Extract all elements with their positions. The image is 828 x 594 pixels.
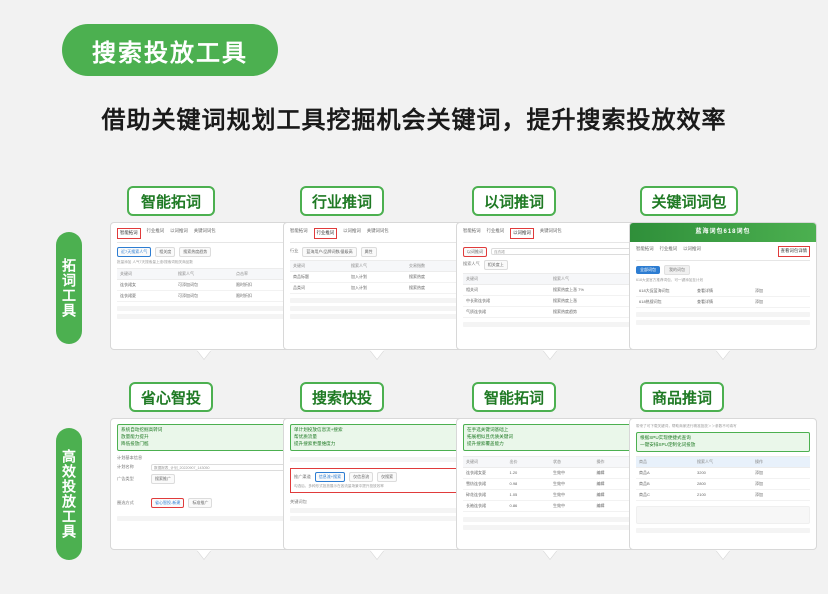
card-1-hint: 批量添加 人气7天搜索量上涨/搜索词相关商品数 bbox=[117, 260, 193, 265]
card-3-tail bbox=[543, 350, 557, 359]
card-2-filter-row[interactable]: 行业 蓝海用户/品牌词数/量级高 属性 bbox=[290, 247, 464, 257]
card-1-strip-1 bbox=[117, 306, 291, 311]
card-3-tabbar[interactable]: 智能拓词 行业推词 以词推词 关键词词包 bbox=[463, 228, 637, 243]
card-5-field-0-value: 数据报表_计划_20220907_143050 bbox=[152, 465, 290, 472]
card-2-tab-0[interactable]: 智能拓词 bbox=[290, 228, 308, 239]
table-row[interactable]: 气质连衣裙 搜索热度趋势 bbox=[463, 307, 637, 318]
card-8-th-0: 商品 bbox=[636, 457, 694, 467]
card-6-tail bbox=[370, 550, 384, 559]
card-3-tab-2[interactable]: 以词推词 bbox=[510, 228, 534, 239]
card-5-content: 系统自动挖掘高转词 放量能力提升 降低投放门槛 计划基本信息 计划名称 数据报表… bbox=[111, 419, 297, 549]
card-8-r2c2[interactable]: 添加 bbox=[752, 490, 810, 500]
card-3-r0c0: 相关词 bbox=[463, 285, 550, 295]
table-row[interactable]: 商品B 2800 添加 bbox=[636, 479, 810, 490]
card-6-content: 单计划投放信息流+搜索 帮优质流量 提升搜索更量维度力 推广渠道 信息流+搜索 … bbox=[284, 419, 470, 549]
card-2-th-0: 关键词 bbox=[290, 261, 348, 271]
card-screenshot-6[interactable]: 单计划投放信息流+搜索 帮优质流量 提升搜索更量维度力 推广渠道 信息流+搜索 … bbox=[283, 418, 471, 550]
card-1-tab-1[interactable]: 行业推词 bbox=[147, 228, 165, 239]
card-3-r0c1: 搜索热度上涨 7% bbox=[550, 285, 637, 295]
card-screenshot-3[interactable]: 智能拓词 行业推词 以词推词 关键词词包 以词推词 连衣裙 搜索人气 相关度上 … bbox=[456, 222, 644, 350]
card-6-radio-row[interactable]: 推广渠道 信息流+搜索 仅信息流 仅搜索 bbox=[294, 472, 460, 482]
section-label-text-2: 高效投放工具 bbox=[61, 449, 77, 539]
card-2-r1c1: 加入计划 bbox=[348, 283, 406, 293]
card-1-tab-0[interactable]: 智能拓词 bbox=[117, 228, 141, 239]
card-5-form-title: 计划基本信息 bbox=[117, 455, 291, 461]
card-6-strip-1 bbox=[290, 457, 464, 462]
table-row[interactable]: 商品C 2100 添加 bbox=[636, 490, 810, 501]
card-8-tail bbox=[716, 550, 730, 559]
card-5-field-1-value[interactable]: 搜索推广 bbox=[151, 474, 175, 484]
card-6-note: 单计划投放信息流+搜索 帮优质流量 提升搜索更量维度力 bbox=[290, 424, 464, 451]
card-8-r1c1: 2800 bbox=[694, 479, 752, 489]
card-1-tabbar[interactable]: 智能拓词 行业推词 以词推词 关键词词包 bbox=[117, 228, 291, 243]
card-3-tab-1[interactable]: 行业推词 bbox=[487, 228, 505, 239]
card-8-r1c0: 商品B bbox=[636, 479, 694, 489]
card-4-content: 蓝海词包618词包 智能拓词 行业推词 以词推词 查看词包详情 全部词包 我的词… bbox=[630, 223, 816, 349]
card-4-subtabs[interactable]: 全部词包 我的词包 bbox=[636, 265, 810, 275]
card-3-filter-row[interactable]: 搜索人气 相关度上 bbox=[463, 260, 637, 270]
card-1-th-1: 搜索人气 bbox=[175, 269, 233, 279]
table-row[interactable]: 相关词 搜索热度上涨 7% bbox=[463, 285, 637, 296]
card-7-r1c0: 雪纺连衣裙 bbox=[463, 479, 507, 489]
card-7-th-2: 状态 bbox=[550, 457, 594, 467]
card-8-r0c1: 3200 bbox=[694, 468, 752, 478]
table-row[interactable]: 中长款连衣裙 搜索热度上涨 bbox=[463, 296, 637, 307]
card-7-r0c1: 1.20 bbox=[507, 468, 551, 478]
card-2-r0c0: 商品标题 bbox=[290, 272, 348, 282]
card-screenshot-7[interactable]: 在手选关键词基础上 拓展相似且优质关键词 提升搜索覆盖能力 关键词 出价 状态 … bbox=[456, 418, 644, 550]
card-1-hint-row: 批量添加 人气7天搜索量上涨/搜索词相关商品数 bbox=[117, 260, 291, 265]
card-4-strip-1 bbox=[636, 312, 810, 317]
card-4-r1c2: 添加 bbox=[752, 297, 810, 307]
card-4-subtab-0[interactable]: 全部词包 bbox=[636, 266, 660, 274]
card-4-banner: 蓝海词包618词包 bbox=[630, 223, 816, 242]
card-4-tabbar[interactable]: 智能拓词 行业推词 以词推词 查看词包详情 bbox=[636, 246, 810, 261]
card-3-th-0: 关键词 bbox=[463, 274, 550, 284]
card-3-tab-0[interactable]: 智能拓词 bbox=[463, 228, 481, 239]
card-7-r1c1: 0.98 bbox=[507, 479, 551, 489]
card-1-table-head: 关键词 搜索人气 点击率 bbox=[117, 268, 291, 280]
card-7-strip-1 bbox=[463, 517, 637, 522]
card-6-strip-3 bbox=[290, 516, 464, 521]
card-chip-7[interactable]: 智能拓词 bbox=[472, 382, 556, 412]
card-8-th-1: 搜索人气 bbox=[694, 457, 752, 467]
card-1-tab-2[interactable]: 以词推词 bbox=[170, 228, 188, 239]
card-screenshot-8[interactable]: 带来了可下载关键词，帮助商家进行精准投放＞＞参数不可填写 根据SPU实现便捷式查… bbox=[629, 418, 817, 550]
card-6-strip-2 bbox=[290, 508, 464, 513]
card-chip-6[interactable]: 搜索快投 bbox=[300, 382, 384, 412]
card-8-r1c2[interactable]: 添加 bbox=[752, 479, 810, 489]
card-7-r0c0: 连衣裙女夏 bbox=[463, 468, 507, 478]
card-1-r1c1: 可添加词包 bbox=[175, 291, 233, 301]
card-8-r2c0: 商品C bbox=[636, 490, 694, 500]
card-2-table-head: 关键词 搜索人气 交易指数 bbox=[290, 260, 464, 272]
table-row[interactable]: 连衣裙女夏 1.20 生效中 编辑 bbox=[463, 468, 637, 479]
card-chip-4[interactable]: 关键词词包 bbox=[640, 186, 738, 216]
card-3-filter-1[interactable]: 相关度上 bbox=[484, 260, 508, 270]
card-3-keyword-input[interactable]: 连衣裙 bbox=[491, 248, 637, 255]
table-row[interactable]: 雪纺连衣裙 0.98 生效中 编辑 bbox=[463, 479, 637, 490]
section-label-text-1: 拓词工具 bbox=[61, 258, 77, 318]
card-2-tab-3[interactable]: 关键词词包 bbox=[367, 228, 389, 239]
card-3-r1c1: 搜索热度上涨 bbox=[550, 296, 637, 306]
card-3-filter-0: 搜索人气 bbox=[463, 261, 480, 267]
section-label-delivery-tools: 高效投放工具 bbox=[56, 428, 82, 560]
card-4-r1c1: 查看详情 bbox=[694, 297, 752, 307]
card-4-tab-1[interactable]: 行业推词 bbox=[660, 246, 678, 257]
section-label-keyword-tools: 拓词工具 bbox=[56, 232, 82, 344]
card-4-strip-2 bbox=[636, 320, 810, 325]
card-chip-2[interactable]: 行业推词 bbox=[300, 186, 384, 216]
card-8-placeholder-block bbox=[636, 506, 810, 524]
card-5-field-2-label: 圈选方式 bbox=[117, 500, 147, 506]
card-8-r2c1: 2100 bbox=[694, 490, 752, 500]
card-5-field-0[interactable]: 计划名称 数据报表_计划_20220907_143050 bbox=[117, 464, 291, 471]
card-2-content: 智能拓词 行业推词 以词推词 关键词词包 行业 蓝海用户/品牌词数/量级高 属性… bbox=[284, 223, 470, 349]
card-2-filter-2[interactable]: 属性 bbox=[361, 247, 377, 257]
card-3-r1c0: 中长款连衣裙 bbox=[463, 296, 550, 306]
card-2-tail bbox=[370, 350, 384, 359]
card-5-field-0-input[interactable]: 数据报表_计划_20220907_143050 bbox=[151, 464, 291, 471]
table-row[interactable]: 商品A 3200 添加 bbox=[636, 468, 810, 479]
card-6-radio-opt-2[interactable]: 仅搜索 bbox=[377, 472, 397, 482]
card-2-filter-label: 行业 bbox=[290, 248, 298, 254]
slide-page: 搜索投放工具 借助关键词规划工具挖掘机会关键词，提升搜索投放效率 拓词工具 高效… bbox=[0, 0, 828, 594]
card-6-radio-group[interactable]: 推广渠道 信息流+搜索 仅信息流 仅搜索 勾选后，多种形式投放展示在各流量场景中… bbox=[290, 468, 464, 493]
table-row[interactable]: 连衣裙夏 可添加词包 限时折扣 bbox=[117, 291, 291, 302]
card-6-radio-opt-1[interactable]: 仅信息流 bbox=[349, 472, 373, 482]
card-3-r2c0: 气质连衣裙 bbox=[463, 307, 550, 317]
card-5-field-0-label: 计划名称 bbox=[117, 464, 147, 470]
card-7-r2c1: 1.05 bbox=[507, 490, 551, 500]
card-1-strip-2 bbox=[117, 314, 291, 319]
card-2-r0c1: 加入计划 bbox=[348, 272, 406, 282]
table-row[interactable]: 连衣裙女 可添加词包 限时折扣 bbox=[117, 280, 291, 291]
card-5-field-2-value[interactable]: 省心智投-新建 bbox=[151, 498, 184, 508]
card-7-strip-2 bbox=[463, 525, 637, 530]
card-1-filter-row[interactable]: 近7天搜索人气 相关度 搜索热度趋势 bbox=[117, 247, 291, 257]
table-row[interactable]: 商品标题 加入计划 搜索热度 bbox=[290, 272, 464, 283]
card-7-note: 在手选关键词基础上 拓展相似且优质关键词 提升搜索覆盖能力 bbox=[463, 424, 637, 451]
card-7-r0c2: 生效中 bbox=[550, 468, 594, 478]
card-7-r3c2: 生效中 bbox=[550, 501, 594, 511]
card-4-body: 智能拓词 行业推词 以词推词 查看词包详情 全部词包 我的词包 618大促官方推… bbox=[630, 242, 816, 329]
card-3-input-label[interactable]: 以词推词 bbox=[463, 247, 487, 257]
card-6-radio-label: 推广渠道 bbox=[294, 474, 311, 480]
card-7-th-0: 关键词 bbox=[463, 457, 507, 467]
card-1-th-0: 关键词 bbox=[117, 269, 175, 279]
card-3-strip-1 bbox=[463, 322, 637, 327]
card-4-r0c0: 618大促蓝海词包 bbox=[636, 286, 694, 296]
card-2-r1c0: 品类词 bbox=[290, 283, 348, 293]
card-5-tail bbox=[197, 550, 211, 559]
card-6-tip: 勾选后，多种形式投放展示在各流量场景中提升投放效率 bbox=[294, 484, 460, 489]
card-3-input-row[interactable]: 以词推词 连衣裙 bbox=[463, 247, 637, 257]
card-7-table-head: 关键词 出价 状态 操作 bbox=[463, 456, 637, 468]
card-4-tail bbox=[716, 350, 730, 359]
card-1-content: 智能拓词 行业推词 以词推词 关键词词包 近7天搜索人气 相关度 搜索热度趋势 … bbox=[111, 223, 297, 349]
card-chip-8[interactable]: 商品推词 bbox=[640, 382, 724, 412]
card-5-field-1-label: 广告类型 bbox=[117, 476, 147, 482]
card-7-r3c1: 0.86 bbox=[507, 501, 551, 511]
card-1-tail bbox=[197, 350, 211, 359]
card-7-content: 在手选关键词基础上 拓展相似且优质关键词 提升搜索覆盖能力 关键词 出价 状态 … bbox=[457, 419, 643, 549]
card-screenshot-4[interactable]: 蓝海词包618词包 智能拓词 行业推词 以词推词 查看词包详情 全部词包 我的词… bbox=[629, 222, 817, 350]
card-screenshot-1[interactable]: 智能拓词 行业推词 以词推词 关键词词包 近7天搜索人气 相关度 搜索热度趋势 … bbox=[110, 222, 298, 350]
card-8-content: 带来了可下载关键词，帮助商家进行精准投放＞＞参数不可填写 根据SPU实现便捷式查… bbox=[630, 419, 816, 549]
card-6-section-label: 关键词包 bbox=[290, 499, 464, 505]
card-5-field-2-extra[interactable]: 标准推广 bbox=[188, 498, 212, 508]
card-2-th-1: 搜索人气 bbox=[348, 261, 406, 271]
card-5-note: 系统自动挖掘高转词 放量能力提升 降低投放门槛 bbox=[117, 424, 291, 451]
card-5-strip-1 bbox=[117, 516, 291, 521]
table-row[interactable]: 碎花连衣裙 1.05 生效中 编辑 bbox=[463, 490, 637, 501]
card-2-tab-1[interactable]: 行业推词 bbox=[314, 228, 338, 239]
card-1-r1c0: 连衣裙夏 bbox=[117, 291, 175, 301]
card-4-r1c0: 618热搜词包 bbox=[636, 297, 694, 307]
card-8-top-text: 带来了可下载关键词，帮助商家进行精准投放＞＞参数不可填写 bbox=[636, 424, 810, 429]
table-row[interactable]: 618大促蓝海词包 查看详情 添加 bbox=[636, 286, 810, 297]
card-3-tab-3[interactable]: 关键词词包 bbox=[540, 228, 562, 239]
card-8-r0c2[interactable]: 添加 bbox=[752, 468, 810, 478]
card-3-table-head: 关键词 搜索人气 bbox=[463, 273, 637, 285]
card-7-r2c2: 生效中 bbox=[550, 490, 594, 500]
card-2-strip-3 bbox=[290, 314, 464, 319]
card-3-r2c1: 搜索热度趋势 bbox=[550, 307, 637, 317]
card-7-r3c0: 长袖连衣裙 bbox=[463, 501, 507, 511]
card-1-r0c1: 可添加词包 bbox=[175, 280, 233, 290]
card-7-r1c2: 生效中 bbox=[550, 479, 594, 489]
card-8-strip-1 bbox=[636, 528, 810, 533]
card-screenshot-2[interactable]: 智能拓词 行业推词 以词推词 关键词词包 行业 蓝海用户/品牌词数/量级高 属性… bbox=[283, 222, 471, 350]
card-4-tab-0[interactable]: 智能拓词 bbox=[636, 246, 654, 257]
card-2-tab-2[interactable]: 以词推词 bbox=[343, 228, 361, 239]
page-title-pill: 搜索投放工具 bbox=[62, 24, 278, 76]
card-8-note: 根据SPU实现便捷式查询 一键安排SPU定制化词投放 bbox=[636, 432, 810, 452]
card-8-r0c0: 商品A bbox=[636, 468, 694, 478]
card-screenshot-5[interactable]: 系统自动挖掘高转词 放量能力提升 降低投放门槛 计划基本信息 计划名称 数据报表… bbox=[110, 418, 298, 550]
card-chip-3[interactable]: 以词推词 bbox=[472, 186, 556, 216]
card-1-r0c0: 连衣裙女 bbox=[117, 280, 175, 290]
card-2-tabbar[interactable]: 智能拓词 行业推词 以词推词 关键词词包 bbox=[290, 228, 464, 243]
table-row[interactable]: 品类词 加入计划 搜索热度 bbox=[290, 283, 464, 294]
card-7-th-1: 出价 bbox=[507, 457, 551, 467]
card-7-tail bbox=[543, 550, 557, 559]
card-1-filter-1[interactable]: 相关度 bbox=[155, 247, 175, 257]
card-5-field-2[interactable]: 圈选方式 省心智投-新建 标准推广 bbox=[117, 498, 291, 508]
card-4-action-button[interactable]: 查看词包详情 bbox=[778, 246, 810, 257]
card-chip-1[interactable]: 智能拓词 bbox=[127, 186, 215, 216]
page-subtitle: 借助关键词规划工具挖掘机会关键词，提升搜索投放效率 bbox=[0, 100, 828, 135]
card-4-r0c2: 添加 bbox=[752, 286, 810, 296]
card-2-strip-1 bbox=[290, 298, 464, 303]
card-2-strip-2 bbox=[290, 306, 464, 311]
card-7-r2c0: 碎花连衣裙 bbox=[463, 490, 507, 500]
card-4-tab-2[interactable]: 以词推词 bbox=[683, 246, 701, 257]
card-4-r0c1: 查看详情 bbox=[694, 286, 752, 296]
card-5-field-1[interactable]: 广告类型 搜索推广 bbox=[117, 474, 291, 484]
card-4-note: 618大促官方推荐词包，可一键添加至计划 bbox=[636, 278, 810, 283]
card-1-tab-3[interactable]: 关键词词包 bbox=[194, 228, 216, 239]
card-1-filter-0[interactable]: 近7天搜索人气 bbox=[117, 247, 151, 257]
card-8-table-head: 商品 搜索人气 操作 bbox=[636, 456, 810, 468]
card-4-subtab-1[interactable]: 我的词包 bbox=[664, 265, 690, 275]
table-row[interactable]: 长袖连衣裙 0.86 生效中 编辑 bbox=[463, 501, 637, 512]
card-chip-5[interactable]: 省心智投 bbox=[129, 382, 213, 412]
card-3-input-value: 连衣裙 bbox=[492, 249, 636, 256]
card-3-content: 智能拓词 行业推词 以词推词 关键词词包 以词推词 连衣裙 搜索人气 相关度上 … bbox=[457, 223, 643, 349]
card-2-filter-1[interactable]: 蓝海用户/品牌词数/量级高 bbox=[302, 247, 356, 257]
card-6-radio-opt-0[interactable]: 信息流+搜索 bbox=[315, 472, 345, 482]
table-row[interactable]: 618热搜词包 查看详情 添加 bbox=[636, 297, 810, 308]
card-3-th-1: 搜索人气 bbox=[550, 274, 637, 284]
card-8-th-2: 操作 bbox=[752, 457, 810, 467]
card-1-filter-2[interactable]: 搜索热度趋势 bbox=[179, 247, 211, 257]
